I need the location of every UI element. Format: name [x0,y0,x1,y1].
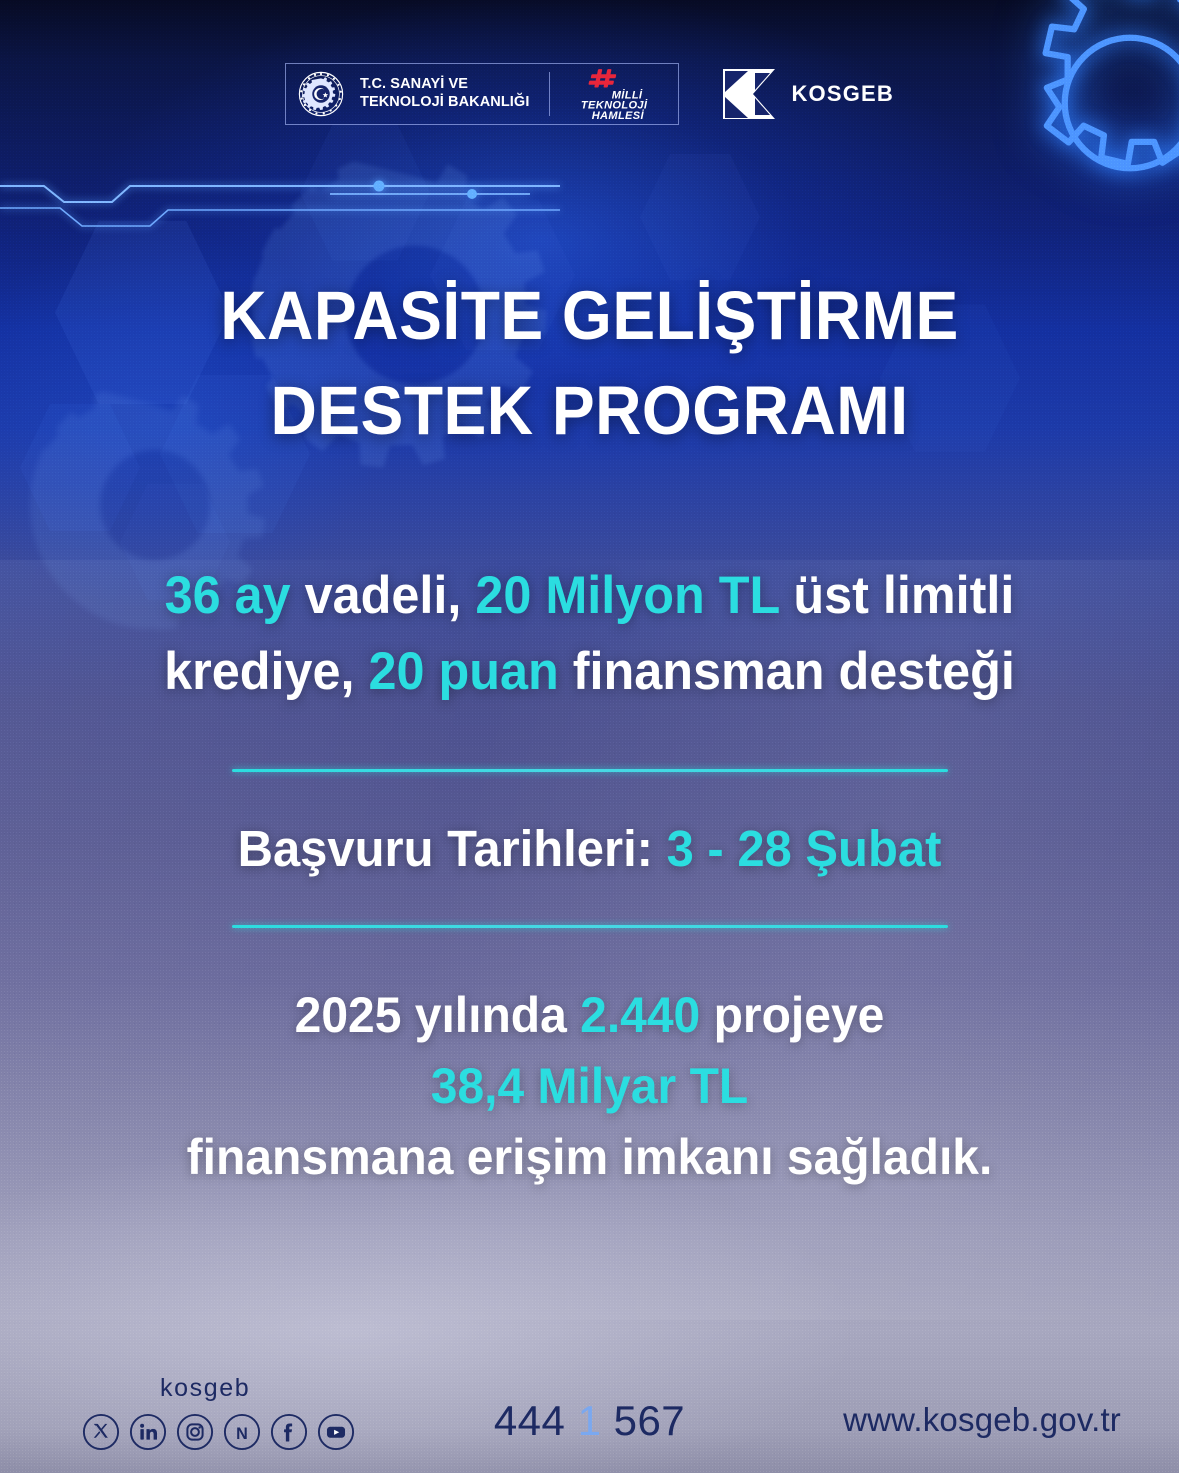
phone-middle-digit: 1 [578,1397,602,1444]
stats-project-count: 2.440 [580,987,700,1043]
paper-grain-texture [0,0,1179,1473]
poster-footer: kosgeb [0,1333,1179,1473]
ministry-name-line2: TEKNOLOJİ BAKANLIĞI [360,94,529,112]
phone-part-1: 444 [494,1397,566,1444]
ministry-name-line1: T.C. SANAYİ VE [360,76,529,94]
application-dates-value: 3 - 28 Şubat [667,820,942,877]
term-rate-points: 20 puan [369,642,559,701]
statistics-line-3: finansmana erişim imkanı sağladık. [24,1122,1156,1193]
term-duration: 36 ay [165,566,291,625]
circuit-traces [0,130,560,250]
term-text-3: krediye, [164,642,368,701]
phone-part-2: 567 [614,1397,686,1444]
logo-divider [549,72,550,116]
hexagon-shape [640,150,760,284]
background-decoration [0,0,1179,1473]
key-terms-line-2: krediye, 20 puan finansman desteği [29,634,1149,710]
kosgeb-wordmark: KOSGEB [791,81,894,107]
term-credit-limit: 20 Milyon TL [475,566,779,625]
ministry-name: T.C. SANAYİ VE TEKNOLOJİ BAKANLIĞI [360,76,529,111]
term-text-1: vadeli, [291,566,476,625]
kosgeb-logo-lockup: KOSGEB [721,67,894,121]
circuit-traces [330,150,630,230]
application-dates-label: Başvuru Tarihleri: [238,820,667,877]
stats-text-2: projeye [700,987,884,1043]
turkish-ministry-emblem-icon [298,71,344,117]
milli-teknoloji-hamlesi-logo: MİLLİ TEKNOLOJİ HAMLESİ [570,67,662,121]
stats-text-1: 2025 yılında [295,987,580,1043]
header-logo-row: T.C. SANAYİ VE TEKNOLOJİ BAKANLIĞI MİLLİ… [0,52,1179,136]
divider-bottom [232,925,948,928]
website-url[interactable]: www.kosgeb.gov.tr [843,1401,1121,1439]
key-terms-line-1: 36 ay vadeli, 20 Milyon TL üst limitli [29,558,1149,634]
ministry-logo-box: T.C. SANAYİ VE TEKNOLOJİ BAKANLIĞI MİLLİ… [285,63,679,125]
statistics-block: 2025 yılında 2.440 projeye 38,4 Milyar T… [24,980,1156,1193]
divider-top [232,769,948,772]
term-text-4: finansman desteği [559,642,1015,701]
application-dates-block: Başvuru Tarihleri: 3 - 28 Şubat [24,818,1156,879]
stats-total-amount: 38,4 Milyar TL [24,1051,1156,1122]
poster-canvas: T.C. SANAYİ VE TEKNOLOJİ BAKANLIĞI MİLLİ… [0,0,1179,1473]
statistics-line-1: 2025 yılında 2.440 projeye [24,980,1156,1051]
headline-line-2: DESTEK PROGRAMI [41,363,1137,458]
poster-headline: KAPASİTE GELİŞTİRME DESTEK PROGRAMI [41,268,1137,458]
key-terms-block: 36 ay vadeli, 20 Milyon TL üst limitli k… [29,558,1149,711]
headline-line-1: KAPASİTE GELİŞTİRME [220,277,959,354]
hexagon-shape [300,120,430,265]
term-text-2: üst limitli [779,566,1014,625]
svg-text:HAMLESİ: HAMLESİ [592,109,645,121]
kosgeb-logo-mark [721,67,777,121]
